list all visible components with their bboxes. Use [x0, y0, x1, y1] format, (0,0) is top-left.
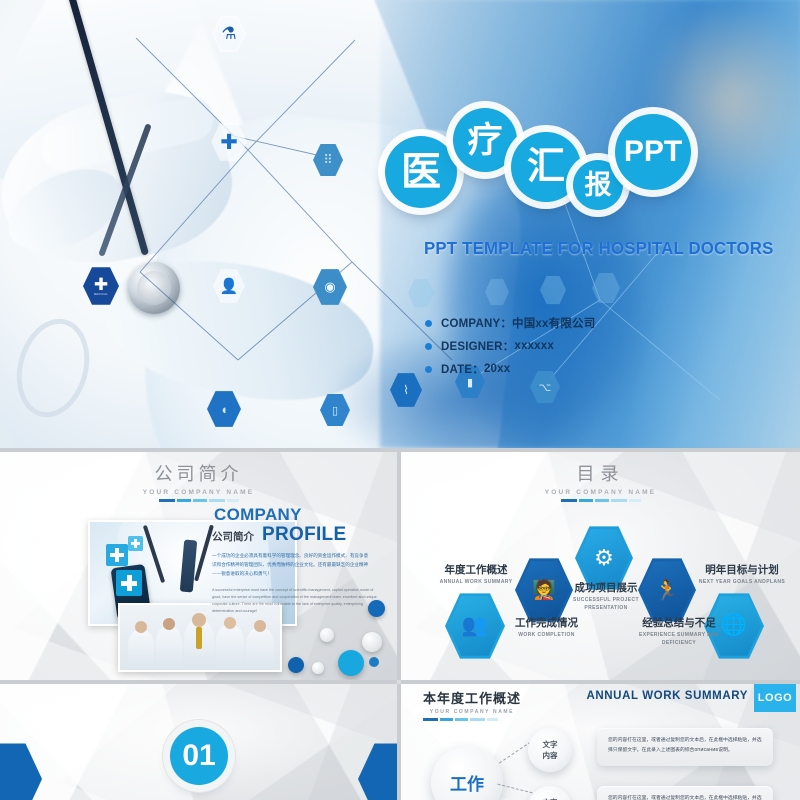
divider-bar: [440, 718, 453, 721]
necktie: [196, 627, 202, 649]
toc-label-en: SUCCESSFUL PROJECT PRESENTATION: [556, 597, 656, 612]
toc-label-cn: 经验总结与不足: [623, 615, 735, 630]
cross-icon: [106, 544, 128, 566]
divider-bar: [470, 718, 485, 721]
presenter-icon: 🧑‍🏫: [532, 578, 556, 602]
slide-divider-horizontal-right: [401, 680, 800, 684]
flask-glyph: ⌇: [403, 383, 409, 397]
divider-bar: [209, 499, 225, 502]
runner-icon: 🏃: [655, 578, 680, 603]
divider-bar: [227, 499, 239, 502]
medical-cross-glyph: ✚: [94, 276, 108, 293]
toc-label-en: EXPERIENCE SUMMARY AND DEFICIENCY: [623, 632, 735, 647]
bullet-icon: [425, 320, 432, 327]
section-number-badge: 01: [170, 727, 228, 785]
toc-label-4: 经验总结与不足 EXPERIENCE SUMMARY AND DEFICIENC…: [623, 615, 735, 647]
annual-subtitle: YOUR COMPANY NAME: [423, 709, 521, 715]
decor-circle-white: [362, 632, 382, 652]
gears-icon: ⚙: [594, 545, 614, 571]
toc-label-en: NEXT YEAR GOALS ANDPLANS: [686, 579, 798, 587]
team-member-head: [135, 621, 147, 633]
divider-bar: [579, 499, 593, 502]
bubble-char-5: PPT: [624, 137, 682, 167]
meta-company-label: COMPANY：: [441, 315, 512, 331]
meta-row-company: COMPANY： 中国xx有限公司: [425, 315, 595, 331]
section-title: 年度工作概述: [0, 796, 397, 800]
slide-divider-hero-bottom: [0, 448, 800, 452]
decor-circle-blue: [369, 657, 379, 667]
bubble-char-1: 医: [401, 152, 441, 192]
profile-heading-cn: 公司简介: [212, 529, 254, 544]
logo-badge: LOGO: [754, 684, 796, 712]
profile-subtitle: YOUR COMPANY NAME: [0, 489, 397, 496]
toc-label-cn: 成功项目展示: [556, 580, 656, 595]
cross-icon: [116, 570, 142, 596]
toc-label-5: 明年目标与计划 NEXT YEAR GOALS ANDPLANS: [686, 562, 798, 587]
annual-summary-slide: 本年度工作概述 YOUR COMPANY NAME ANNUAL WORK SU…: [401, 684, 800, 800]
title-bubble-yi: 医: [385, 136, 457, 208]
profile-header: 公司简介 YOUR COMPANY NAME: [0, 460, 397, 502]
team-member-head: [163, 618, 175, 630]
hero-subtitle: PPT TEMPLATE FOR HOSPITAL DOCTORS: [424, 238, 774, 259]
bubble-char-2: 疗: [467, 123, 502, 158]
microscope-glyph: ⚗: [221, 24, 236, 44]
profile-heading-row: 公司简介 PROFILE: [212, 524, 397, 546]
slide-deck: ⚗ ✚ ⠿ ✚ MEDICAL 👤 ◉ ◖ ▯: [0, 0, 800, 800]
bullet-icon: [425, 366, 432, 373]
profile-body-cn: 一个成功的企业必须具有着科学的管理理念、良好的资金运作模式、有竞争意识和合作精神…: [212, 553, 372, 580]
toc-label-cn: 明年目标与计划: [686, 562, 798, 577]
annual-paragraph-2: 您的内容打在这里，或者通过复制您的文本后，在此框中选择粘贴，并选择只保留文字。: [608, 794, 762, 800]
medical-badge-label: MEDICAL: [94, 293, 108, 296]
section-number: 01: [182, 739, 215, 773]
bubble-char-3: 汇: [527, 148, 565, 186]
annual-paragraph-1: 您的内容打在这里，或者通过复制您的文本后，在此框中选择粘贴，并选择只保留文字。在…: [608, 736, 762, 755]
node-label-line2: 内容: [543, 750, 558, 761]
meta-date-value: 20xx: [484, 363, 510, 375]
eye-glyph: ◉: [324, 279, 335, 295]
decor-circle-cyan: [338, 650, 364, 676]
team-member: [246, 628, 274, 670]
annual-center-label: 工作: [450, 770, 484, 795]
toc-slide: 目录 YOUR COMPANY NAME 👥 🧑‍🏫 ⚙ 🏃: [401, 452, 800, 680]
profile-heading-company: COMPANY: [214, 505, 397, 525]
toc-label-1: 年度工作概述 ANNUAL WORK SUMMARY: [421, 562, 531, 587]
divider-bar: [193, 499, 207, 502]
annual-header: 本年度工作概述 YOUR COMPANY NAME: [423, 688, 521, 721]
profile-text-block: COMPANY 公司简介 PROFILE 一个成功的企业必须具有着科学的管理理念…: [212, 505, 397, 615]
toc-label-cn: 年度工作概述: [421, 562, 531, 577]
decor-circle-blue-deep: [288, 657, 304, 673]
divider-bar: [561, 499, 577, 502]
annual-text-box-2: 您的内容打在这里，或者通过复制您的文本后，在此框中选择粘贴，并选择只保留文字。: [597, 786, 773, 800]
meta-row-date: DATE： 20xx: [425, 361, 595, 377]
title-bubble-ppt: PPT: [615, 114, 691, 190]
team-member-head: [254, 620, 266, 632]
annual-header-en: ANNUAL WORK SUMMARY: [586, 690, 748, 702]
divider-bar: [487, 718, 498, 721]
annual-node-1[interactable]: 文字 内容: [528, 728, 572, 772]
meta-row-designer: DESIGNER： xxxxxx: [425, 338, 595, 354]
meta-designer-value: xxxxxx: [514, 340, 554, 352]
title-divider-bars: [401, 499, 800, 502]
people-icon: 👥: [462, 614, 488, 638]
section-divider-slide: 01 年度工作概述: [0, 684, 397, 800]
toc-subtitle: YOUR COMPANY NAME: [401, 489, 800, 496]
toc-label-3: 成功项目展示 SUCCESSFUL PROJECT PRESENTATION: [556, 580, 656, 612]
team-member: [216, 625, 244, 670]
meta-date-label: DATE：: [441, 361, 484, 377]
hero-photo: ⚗ ✚ ⠿ ✚ MEDICAL 👤 ◉ ◖ ▯: [0, 0, 800, 448]
title-bubble-hui: 汇: [511, 132, 581, 202]
divider-bar: [177, 499, 191, 502]
team-member: [128, 630, 154, 670]
hero-meta: COMPANY： 中国xx有限公司 DESIGNER： xxxxxx DATE：…: [425, 315, 595, 384]
patient-glyph: 👤: [220, 277, 239, 295]
divider-bar: [629, 499, 641, 502]
divider-bar: [611, 499, 627, 502]
team-member: [156, 626, 182, 670]
pill-glyph: ◖: [220, 402, 228, 417]
virus-glyph: ⠿: [323, 152, 333, 168]
annual-title: 本年度工作概述: [423, 688, 521, 707]
annual-text-box-1: 您的内容打在这里，或者通过复制您的文本后，在此框中选择粘贴，并选择只保留文字。在…: [597, 728, 773, 766]
toc-title: 目录: [401, 460, 800, 486]
toc-label-2: 工作完成情况 WORK COMPLETION: [494, 615, 599, 640]
title-bubble-liao: 疗: [453, 108, 517, 172]
toc-label-en: ANNUAL WORK SUMMARY: [421, 579, 531, 587]
profile-heading-profile: PROFILE: [262, 524, 346, 546]
meta-designer-label: DESIGNER：: [441, 338, 514, 354]
divider-bar: [159, 499, 175, 502]
toc-label-en: WORK COMPLETION: [494, 632, 599, 640]
team-member-head: [224, 617, 236, 629]
cross-glyph: ✚: [220, 130, 238, 155]
divider-bar: [595, 499, 609, 502]
profile-body-en: A successful enterprise must have the co…: [212, 587, 377, 615]
hero-slide: ⚗ ✚ ⠿ ✚ MEDICAL 👤 ◉ ◖ ▯: [0, 0, 800, 448]
node-label-line1: 文字: [543, 739, 558, 750]
bullet-icon: [425, 343, 432, 350]
slide-divider-horizontal-left: [0, 680, 397, 684]
decor-circle-white: [312, 662, 324, 674]
meta-company-value: 中国xx有限公司: [512, 315, 595, 331]
divider-bar: [423, 718, 438, 721]
cross-icon: [128, 536, 143, 551]
bubble-char-4: 报: [585, 172, 612, 199]
title-divider-bars: [423, 718, 521, 721]
decor-circle-blue-dark: [368, 600, 385, 617]
capsule-glyph: ▯: [332, 404, 338, 417]
team-member-head: [192, 613, 206, 627]
divider-bar: [455, 718, 468, 721]
toc-label-cn: 工作完成情况: [494, 615, 599, 630]
title-divider-bars: [0, 499, 397, 502]
title-bubbles: 医 疗 汇 报 PPT: [385, 108, 725, 223]
profile-title: 公司简介: [0, 460, 397, 486]
title-bubble-bao: 报: [573, 160, 623, 210]
toc-header: 目录 YOUR COMPANY NAME: [401, 460, 800, 502]
slide-divider-vertical-bottom: [397, 684, 401, 800]
decor-circle-white: [320, 628, 334, 642]
